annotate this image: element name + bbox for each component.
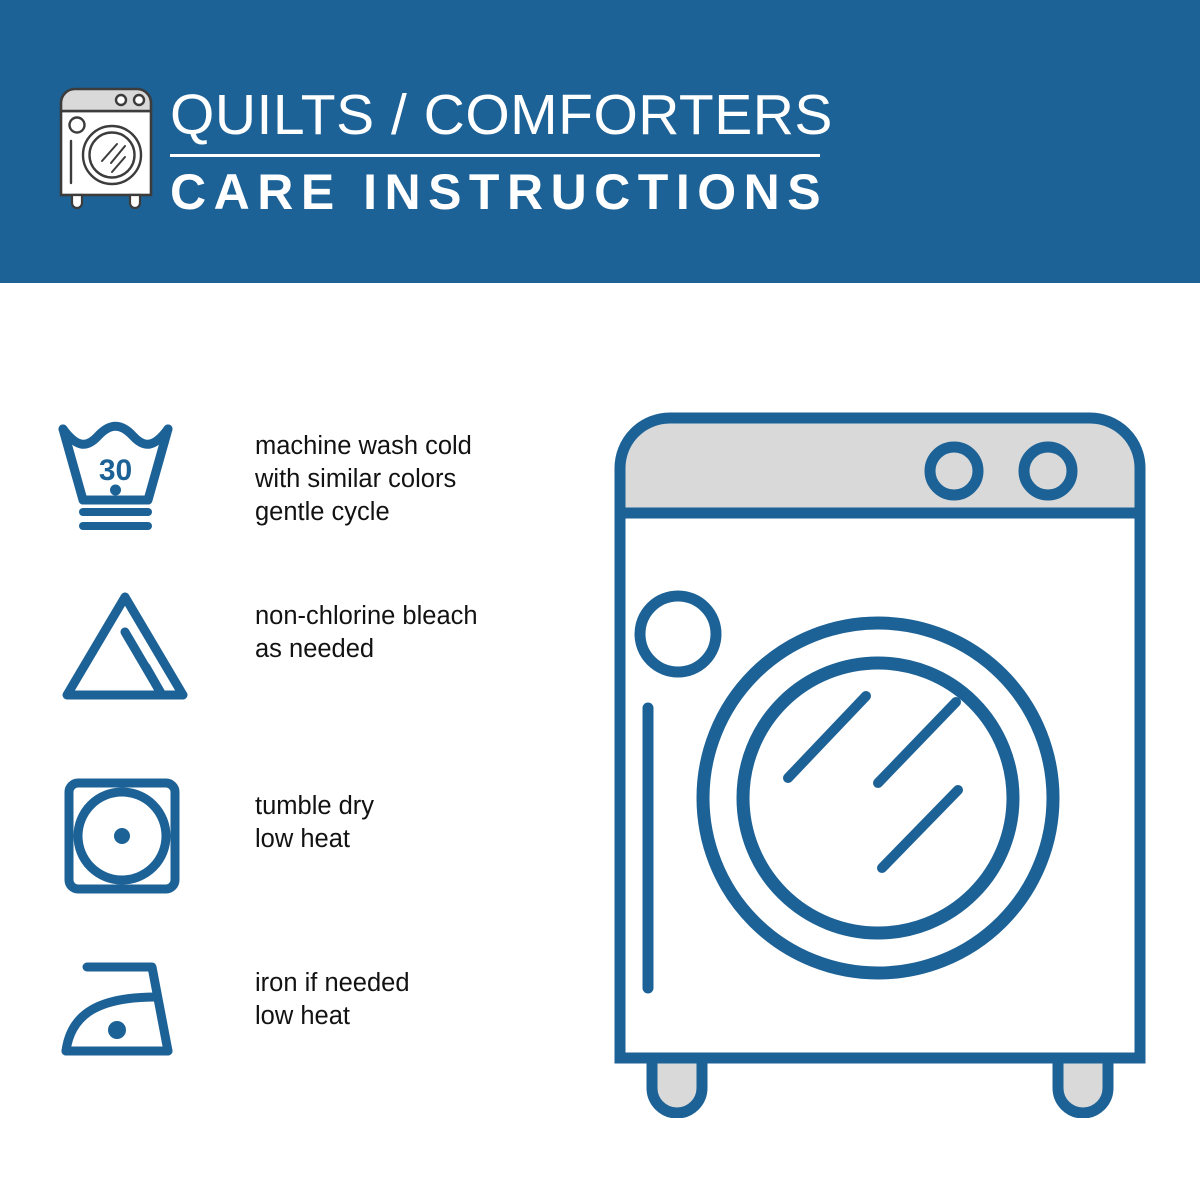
care-text-line: non-chlorine bleach — [255, 600, 478, 633]
care-item-bleach: non-chlorine bleach as needed — [55, 588, 555, 704]
care-text-line: iron if needed — [255, 967, 410, 1000]
header-title-group: QUILTS / COMFORTERS CARE INSTRUCTIONS — [170, 84, 820, 221]
front-load-washing-machine-illustration — [600, 408, 1160, 1118]
detergent-indicator — [640, 596, 716, 672]
door-inner-ring — [743, 663, 1013, 933]
care-item-machine-wash-text: machine wash cold with similar colors ge… — [255, 418, 472, 529]
washing-machine-icon — [55, 83, 157, 209]
tumble-dry-dot-icon — [114, 828, 130, 844]
iron-low-heat-icon — [55, 955, 200, 1071]
care-item-tumble-dry: tumble dry low heat — [55, 778, 555, 894]
knob-left-icon — [116, 95, 126, 105]
knob-right — [1024, 447, 1072, 495]
care-item-machine-wash: 30 machine wash cold with similar colors… — [55, 418, 555, 534]
care-text-line: as needed — [255, 633, 478, 666]
care-instructions-page: QUILTS / COMFORTERS CARE INSTRUCTIONS 30 — [0, 0, 1200, 1200]
title-divider — [170, 154, 820, 157]
tumble-dry-low-icon — [55, 778, 200, 894]
machine-wash-30-gentle-icon: 30 — [55, 418, 200, 534]
care-text-line: with similar colors — [255, 463, 472, 496]
gentle-bar-1 — [79, 508, 152, 516]
header-banner: QUILTS / COMFORTERS CARE INSTRUCTIONS — [0, 0, 1200, 283]
wash-temperature-label: 30 — [99, 454, 132, 487]
leg-left — [652, 1058, 702, 1113]
care-item-bleach-text: non-chlorine bleach as needed — [255, 588, 478, 666]
care-item-tumble-dry-text: tumble dry low heat — [255, 778, 374, 856]
care-text-line: low heat — [255, 1000, 410, 1033]
page-title-primary: QUILTS / COMFORTERS — [170, 84, 820, 146]
care-text-line: tumble dry — [255, 790, 374, 823]
page-title-secondary: CARE INSTRUCTIONS — [170, 163, 820, 221]
iron-dot-icon — [108, 1021, 126, 1039]
non-chlorine-bleach-icon — [55, 588, 200, 704]
care-item-iron-text: iron if needed low heat — [255, 955, 410, 1033]
care-text-line: low heat — [255, 823, 374, 856]
knob-left — [930, 447, 978, 495]
care-item-iron: iron if needed low heat — [55, 955, 555, 1071]
wash-dot-icon — [110, 485, 121, 496]
care-text-line: gentle cycle — [255, 496, 472, 529]
gentle-bar-2 — [79, 522, 152, 530]
knob-right-icon — [134, 95, 144, 105]
care-text-line: machine wash cold — [255, 430, 472, 463]
leg-right — [1058, 1058, 1108, 1113]
